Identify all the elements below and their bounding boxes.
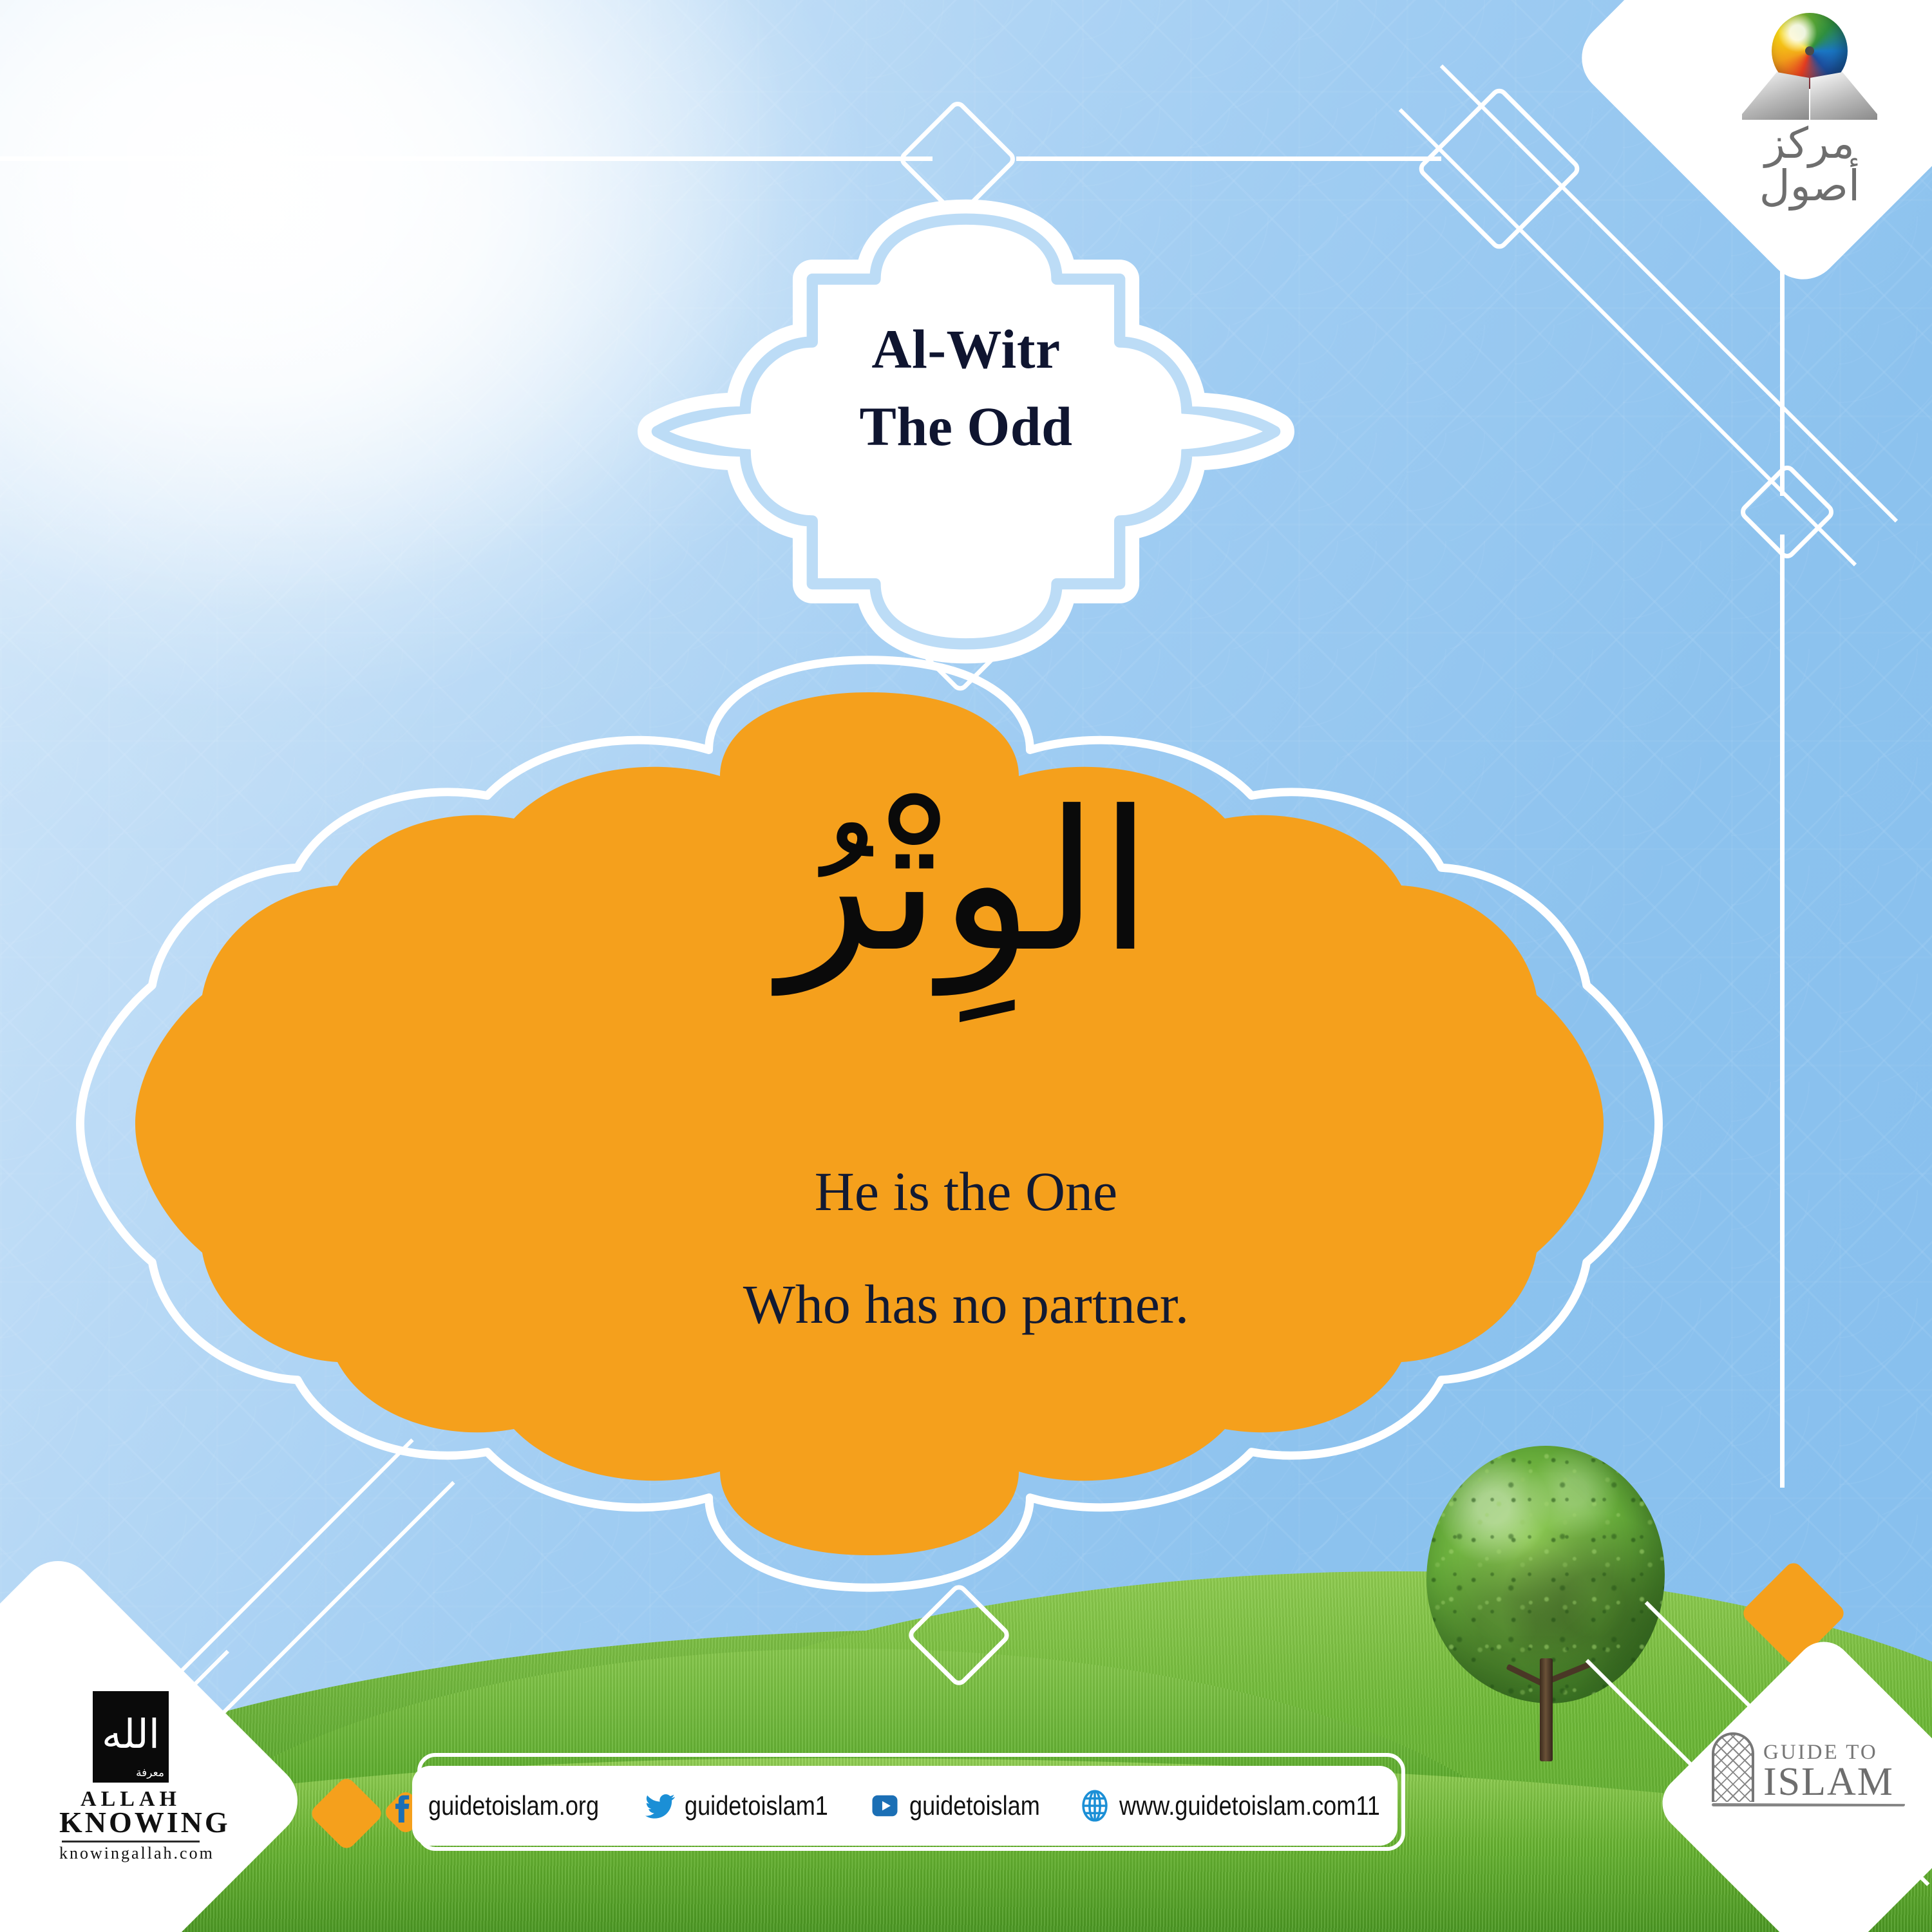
open-book-icon — [1742, 71, 1877, 120]
knowing-allah-website: knowingallah.com — [59, 1845, 202, 1862]
social-link-twitter[interactable]: guidetoislam1 — [643, 1789, 851, 1823]
divine-name-arabic: الوِتْرُ — [0, 786, 1932, 979]
frame-line-right-lower — [1780, 535, 1785, 1488]
meaning-line2: Who has no partner. — [0, 1272, 1932, 1336]
globe-icon — [1078, 1789, 1112, 1823]
website-url: www.guidetoislam.com11 — [1119, 1790, 1380, 1821]
guide-to-islam-line2: ISLAM — [1763, 1762, 1894, 1802]
twitter-icon — [643, 1789, 677, 1823]
tree-trunk — [1540, 1658, 1553, 1761]
markaz-usul-logo[interactable]: مركز أصول — [1732, 13, 1887, 207]
page-title-line2: The Odd — [0, 394, 1932, 459]
book-page-right — [1810, 72, 1877, 120]
twitter-handle: guidetoislam1 — [685, 1790, 828, 1821]
social-link-website[interactable]: www.guidetoislam.com11 — [1078, 1789, 1423, 1823]
facebook-handle: guidetoislam.org — [428, 1790, 599, 1821]
allah-calligraphy: الله — [102, 1714, 160, 1754]
knowing-allah-word-knowing: KNOWING — [59, 1808, 202, 1837]
social-link-facebook[interactable]: guidetoislam.org — [387, 1789, 627, 1823]
mosque-arch-icon — [1712, 1732, 1754, 1802]
youtube-handle: guidetoislam — [909, 1790, 1040, 1821]
meaning-line1: He is the One — [0, 1159, 1932, 1224]
book-page-left — [1742, 72, 1809, 120]
frame-line-top-left — [0, 156, 933, 161]
facebook-icon — [387, 1789, 421, 1823]
social-link-youtube[interactable]: guidetoislam — [868, 1789, 1061, 1823]
allah-calligraphy-badge: الله معرفة — [93, 1691, 169, 1783]
youtube-icon — [868, 1789, 902, 1823]
knowing-allah-logo[interactable]: الله معرفة ALLAH KNOWING knowingallah.co… — [59, 1691, 202, 1862]
logo-divider — [62, 1841, 200, 1842]
markaz-usul-arabic-text: مركز أصول — [1732, 122, 1887, 207]
poster-canvas: Al-Witr The Odd الوِتْرُ He is the One W… — [0, 0, 1932, 1932]
marifah-text: معرفة — [136, 1766, 164, 1779]
page-title-line1: Al-Witr — [0, 317, 1932, 381]
guide-to-islam-logo[interactable]: GUIDE TO ISLAM — [1712, 1732, 1905, 1806]
frame-line-top-right — [1016, 156, 1441, 161]
social-links-bar: guidetoislam.org guidetoislam1 guidetois… — [412, 1766, 1397, 1846]
